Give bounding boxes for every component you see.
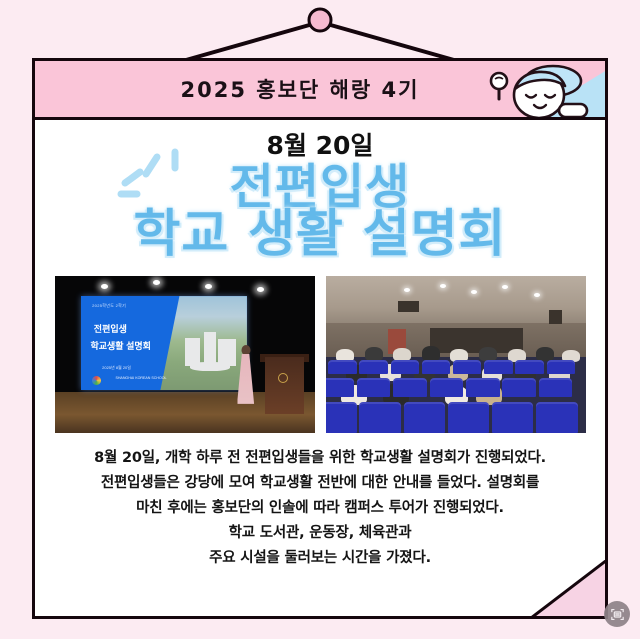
headline-block: 8월 20일 전편입생 학교 생활 설명회 [35,120,605,264]
sparkle-icon [113,146,185,206]
header-band: 2025 홍보단 해랑 4기 [35,61,605,120]
audience-seating [326,342,586,433]
body-line-3: 마친 후에는 홍보단의 인솔에 따라 캠퍼스 투어가 진행되었다. [45,496,595,521]
hanger-ring [309,9,331,31]
poster-title-line2: 학교 생활 설명회 [35,209,605,260]
hanger-string-left [186,22,320,60]
slide-title1: 전편입생 [94,322,127,335]
hanger-string-right [320,22,454,60]
haerang-mascot-icon [481,61,599,120]
photo-row: 2025학년도 2학기 전편입생 학교생활 설명회 2025년 8월 20일 S… [35,276,605,433]
school-logo-icon [92,376,101,385]
poster-card: 2025 홍보단 해랑 4기 [32,58,608,619]
photo-presentation: 2025학년도 2학기 전편입생 학교생활 설명회 2025년 8월 20일 S… [55,276,315,433]
body-line-2: 전편입생들은 강당에 모여 학교생활 전반에 대한 안내를 들었다. 설명회를 [45,471,595,496]
body-line-1: 8월 20일, 개학 하루 전 전편입생들을 위한 학교생활 설명회가 진행되었… [45,446,595,471]
slide-school-name: SHANGHAI KOREAN SCHOOL [115,376,166,381]
speaker-person [234,345,257,413]
hanger-decoration [0,0,640,62]
slide-title2: 학교생활 설명회 [90,339,150,352]
body-line-4: 학교 도서관, 운동장, 체육관과 [45,521,595,546]
body-line-5: 주요 시설을 둘러보는 시간을 가졌다. [45,546,595,571]
scan-document-icon [604,601,630,627]
podium [265,357,304,414]
slide-date: 2025년 8월 20일 [102,365,131,371]
slide-tag: 2025학년도 2학기 [92,303,126,309]
projected-slide: 2025학년도 2학기 전편입생 학교생활 설명회 2025년 8월 20일 S… [81,296,247,390]
body-copy: 8월 20일, 개학 하루 전 전편입생들을 위한 학교생활 설명회가 진행되었… [35,446,605,571]
folded-corner-line [531,560,607,618]
photo-audience [326,276,586,433]
